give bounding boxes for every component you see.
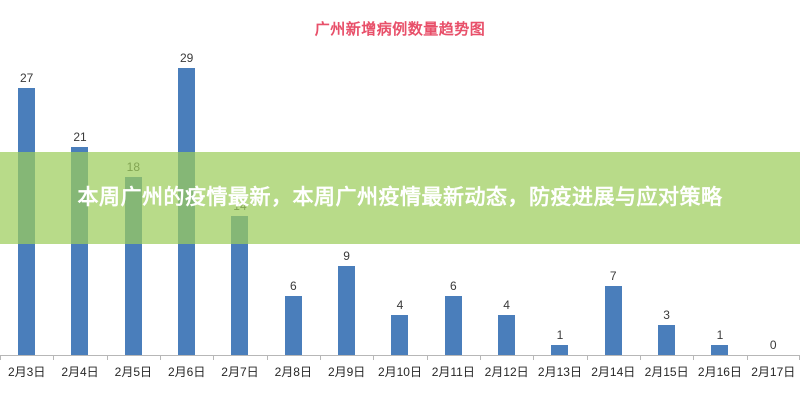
- x-tick: [427, 355, 480, 360]
- bar-value-label: 6: [427, 280, 480, 292]
- bar: [445, 296, 462, 355]
- bar: [498, 315, 515, 355]
- x-tick: [587, 355, 640, 360]
- x-tick: [213, 355, 266, 360]
- x-tick: [533, 355, 586, 360]
- x-tick-label: 2月17日: [747, 363, 800, 380]
- x-tick: [693, 355, 746, 360]
- x-tick: [373, 355, 426, 360]
- x-tick-label: 2月16日: [693, 363, 746, 380]
- x-tick: [0, 355, 53, 360]
- bar-value-label: 4: [373, 299, 426, 311]
- x-axis-labels: 2月3日2月4日2月5日2月6日2月7日2月8日2月9日2月10日2月11日2月…: [0, 363, 800, 380]
- x-tick-label: 2月10日: [373, 363, 426, 380]
- caption-overlay-text: 本周广州的疫情最新，本周广州疫情最新动态，防疫进展与应对策略: [50, 183, 750, 213]
- bar: [711, 345, 728, 355]
- x-tick-label: 2月15日: [640, 363, 693, 380]
- bar-value-label: 29: [160, 52, 213, 64]
- bar-value-label: 27: [0, 72, 53, 84]
- x-tick-label: 2月4日: [53, 363, 106, 380]
- x-tick: [480, 355, 533, 360]
- bar-value-label: 7: [587, 270, 640, 282]
- bar: [391, 315, 408, 355]
- bar: [605, 286, 622, 355]
- x-tick-label: 2月9日: [320, 363, 373, 380]
- x-tick-label: 2月12日: [480, 363, 533, 380]
- x-tick-label: 2月11日: [427, 363, 480, 380]
- x-tick-label: 2月14日: [587, 363, 640, 380]
- bar-value-label: 4: [480, 299, 533, 311]
- bar: [658, 325, 675, 355]
- x-tick: [107, 355, 160, 360]
- bar: [285, 296, 302, 355]
- x-tick-label: 2月13日: [533, 363, 586, 380]
- x-axis-ticks: [0, 355, 800, 360]
- x-tick: [320, 355, 373, 360]
- chart-title: 广州新增病例数量趋势图: [0, 18, 800, 39]
- x-tick: [640, 355, 693, 360]
- bar-value-label: 3: [640, 309, 693, 321]
- x-tick: [747, 355, 800, 360]
- x-tick: [160, 355, 213, 360]
- bar: [551, 345, 568, 355]
- bar-value-label: 6: [267, 280, 320, 292]
- x-tick-label: 2月6日: [160, 363, 213, 380]
- x-tick-label: 2月8日: [267, 363, 320, 380]
- x-tick-label: 2月7日: [213, 363, 266, 380]
- bar-value-label: 0: [747, 339, 800, 351]
- bar-value-label: 21: [53, 131, 106, 143]
- caption-overlay-band: 本周广州的疫情最新，本周广州疫情最新动态，防疫进展与应对策略: [0, 152, 800, 244]
- bar-value-label: 1: [693, 329, 746, 341]
- x-tick: [53, 355, 106, 360]
- x-tick-label: 2月5日: [107, 363, 160, 380]
- bar-value-label: 9: [320, 250, 373, 262]
- chart-screenshot: 广州新增病例数量趋势图 27211829146946417310 2月3日2月4…: [0, 0, 800, 400]
- x-tick: [267, 355, 320, 360]
- bar-value-label: 1: [533, 329, 586, 341]
- bar: [338, 266, 355, 355]
- x-tick-label: 2月3日: [0, 363, 53, 380]
